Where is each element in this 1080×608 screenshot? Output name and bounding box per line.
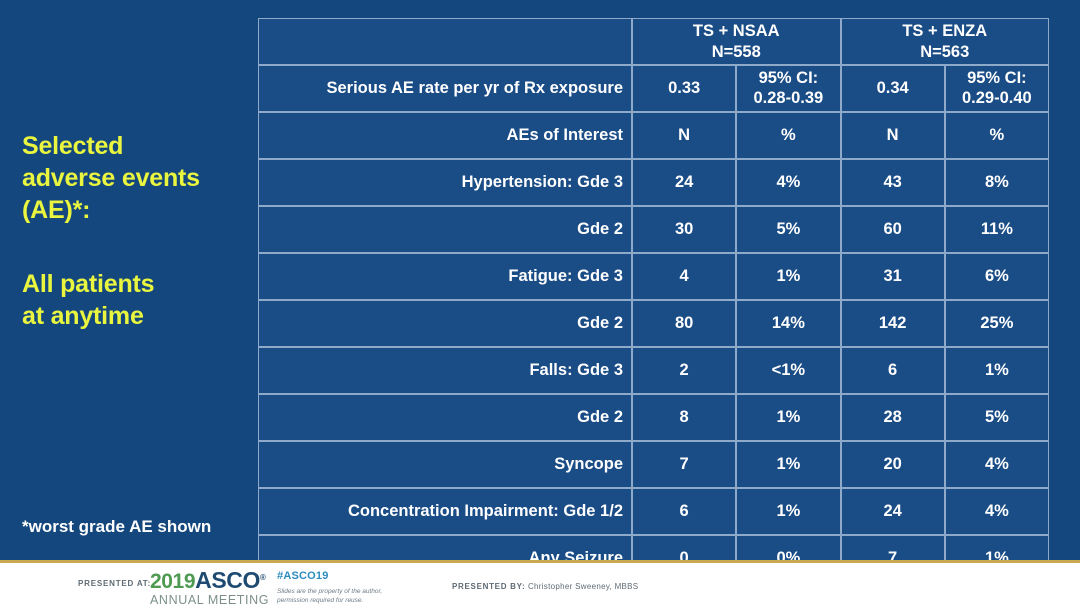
subheader-enza-n: N xyxy=(841,112,945,159)
row-label: Fatigue: Gde 3 xyxy=(258,253,632,300)
footer-presented-at-label: PRESENTED AT: xyxy=(78,579,151,588)
row-enza-n: 142 xyxy=(841,300,945,347)
serious-ae-nsaa-rate: 0.33 xyxy=(632,65,736,112)
row-enza-n: 31 xyxy=(841,253,945,300)
asco-logo: 2019ASCO® ANNUAL MEETING xyxy=(150,569,269,607)
footer-presented-by-label: PRESENTED BY: xyxy=(452,582,525,591)
serious-ae-enza-ci: 95% CI: 0.29-0.40 xyxy=(945,65,1049,112)
row-nsaa-n: 30 xyxy=(632,206,736,253)
row-label: Gde 2 xyxy=(258,206,632,253)
adverse-events-table: TS + NSAA N=558 TS + ENZA N=563 Serious … xyxy=(258,18,1049,582)
header-arm-enza-name: TS + ENZA xyxy=(850,21,1041,42)
row-label: Gde 2 xyxy=(258,300,632,347)
footer-hashtag: #ASCO19 xyxy=(277,570,329,582)
row-nsaa-n: 2 xyxy=(632,347,736,394)
row-nsaa-pct: 14% xyxy=(736,300,840,347)
slide-footer: PRESENTED AT: 2019ASCO® ANNUAL MEETING #… xyxy=(0,560,1080,608)
row-enza-n: 24 xyxy=(841,488,945,535)
subheader-nsaa-n: N xyxy=(632,112,736,159)
table-row: Gde 28014%14225% xyxy=(258,300,1049,347)
subheader-enza-pct: % xyxy=(945,112,1049,159)
row-enza-pct: 25% xyxy=(945,300,1049,347)
footer-presenter-name: Christopher Sweeney, MBBS xyxy=(528,582,639,591)
asco-logo-wordmark: 2019ASCO® xyxy=(150,569,269,592)
slide-canvas: Selected adverse events (AE)*: All patie… xyxy=(0,0,1080,560)
row-nsaa-n: 6 xyxy=(632,488,736,535)
subheader-aes-of-interest: AEs of Interest xyxy=(258,112,632,159)
row-enza-n: 28 xyxy=(841,394,945,441)
row-nsaa-n: 24 xyxy=(632,159,736,206)
table-row: Gde 2305%6011% xyxy=(258,206,1049,253)
table-row-serious-ae-rate: Serious AE rate per yr of Rx exposure 0.… xyxy=(258,65,1049,112)
row-nsaa-pct: 1% xyxy=(736,488,840,535)
header-corner-cell xyxy=(258,18,632,65)
row-nsaa-n: 8 xyxy=(632,394,736,441)
row-enza-n: 43 xyxy=(841,159,945,206)
footer-divider-rule xyxy=(0,560,1080,563)
serious-ae-enza-rate: 0.34 xyxy=(841,65,945,112)
row-nsaa-n: 7 xyxy=(632,441,736,488)
row-label: Concentration Impairment: Gde 1/2 xyxy=(258,488,632,535)
caption-line-5: at anytime xyxy=(22,300,254,332)
row-enza-n: 20 xyxy=(841,441,945,488)
asco-logo-year: 2019 xyxy=(150,570,195,593)
caption-all-patients: All patients at anytime xyxy=(22,268,254,332)
header-arm-nsaa-name: TS + NSAA xyxy=(641,21,832,42)
row-enza-pct: 11% xyxy=(945,206,1049,253)
serious-ae-nsaa-ci: 95% CI: 0.28-0.39 xyxy=(736,65,840,112)
table-row: Concentration Impairment: Gde 1/261%244% xyxy=(258,488,1049,535)
row-nsaa-n: 80 xyxy=(632,300,736,347)
footer-presenter: PRESENTED BY: Christopher Sweeney, MBBS xyxy=(452,582,638,591)
footer-rights-note: Slides are the property of the author, p… xyxy=(277,587,407,606)
serious-ae-nsaa-ci-line2: 0.28-0.39 xyxy=(745,89,831,108)
asco-logo-name: ASCO xyxy=(195,567,260,593)
header-arm-enza-n: N=563 xyxy=(850,42,1041,63)
row-enza-n: 6 xyxy=(841,347,945,394)
table-row: Falls: Gde 32<1%61% xyxy=(258,347,1049,394)
row-nsaa-pct: 4% xyxy=(736,159,840,206)
header-arm-nsaa: TS + NSAA N=558 xyxy=(632,18,841,65)
table-header-row: TS + NSAA N=558 TS + ENZA N=563 xyxy=(258,18,1049,65)
table-row: Hypertension: Gde 3244%438% xyxy=(258,159,1049,206)
table-row: Fatigue: Gde 341%316% xyxy=(258,253,1049,300)
asco-logo-subtitle: ANNUAL MEETING xyxy=(150,594,269,607)
row-nsaa-pct: 5% xyxy=(736,206,840,253)
row-enza-pct: 1% xyxy=(945,347,1049,394)
row-nsaa-pct: <1% xyxy=(736,347,840,394)
row-label: Syncope xyxy=(258,441,632,488)
row-nsaa-pct: 1% xyxy=(736,253,840,300)
row-nsaa-pct: 1% xyxy=(736,394,840,441)
table-row: Syncope71%204% xyxy=(258,441,1049,488)
caption-line-4: All patients xyxy=(22,268,254,300)
header-arm-enza: TS + ENZA N=563 xyxy=(841,18,1050,65)
caption-line-1: Selected xyxy=(22,130,254,162)
row-enza-pct: 8% xyxy=(945,159,1049,206)
header-arm-nsaa-n: N=558 xyxy=(641,42,832,63)
row-enza-pct: 4% xyxy=(945,488,1049,535)
row-label: Hypertension: Gde 3 xyxy=(258,159,632,206)
caption-line-3: (AE)*: xyxy=(22,194,254,226)
table-subheader-row: AEs of Interest N % N % xyxy=(258,112,1049,159)
registered-trademark-icon: ® xyxy=(260,573,266,582)
serious-ae-label: Serious AE rate per yr of Rx exposure xyxy=(258,65,632,112)
serious-ae-enza-ci-line1: 95% CI: xyxy=(954,69,1040,88)
caption-line-2: adverse events xyxy=(22,162,254,194)
row-enza-pct: 5% xyxy=(945,394,1049,441)
table-row: Gde 281%285% xyxy=(258,394,1049,441)
row-nsaa-pct: 1% xyxy=(736,441,840,488)
row-label: Falls: Gde 3 xyxy=(258,347,632,394)
row-label: Gde 2 xyxy=(258,394,632,441)
subheader-nsaa-pct: % xyxy=(736,112,840,159)
slide-caption-column: Selected adverse events (AE)*: All patie… xyxy=(22,130,254,332)
footnote-worst-grade: *worst grade AE shown xyxy=(22,517,211,537)
row-enza-n: 60 xyxy=(841,206,945,253)
row-enza-pct: 4% xyxy=(945,441,1049,488)
row-enza-pct: 6% xyxy=(945,253,1049,300)
caption-selected-adverse-events: Selected adverse events (AE)*: xyxy=(22,130,254,226)
serious-ae-nsaa-ci-line1: 95% CI: xyxy=(745,69,831,88)
serious-ae-enza-ci-line2: 0.29-0.40 xyxy=(954,89,1040,108)
row-nsaa-n: 4 xyxy=(632,253,736,300)
